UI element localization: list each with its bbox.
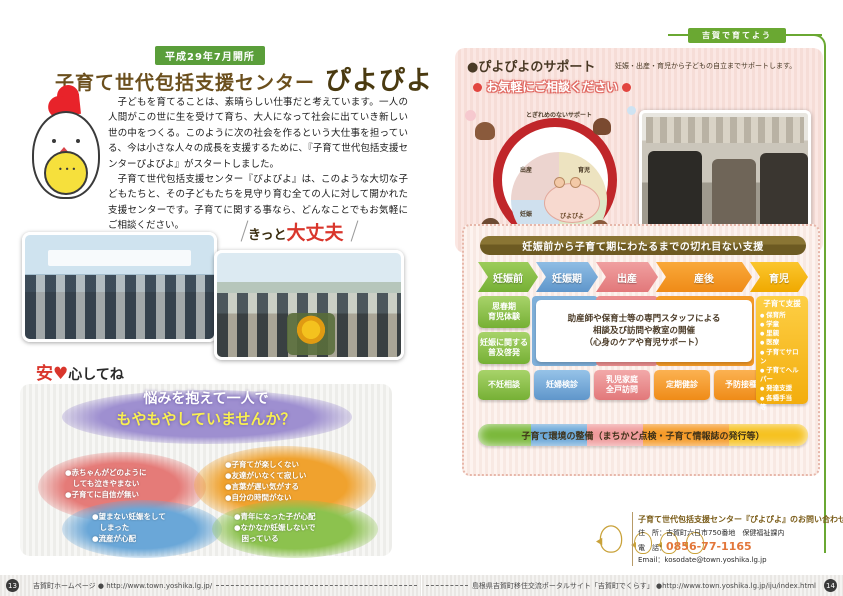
worry-green-line-1: ●青年になった子が心配	[234, 512, 316, 523]
person-illustration-1-icon	[475, 122, 495, 140]
tab-rule-left	[668, 34, 690, 36]
page-title-piyo: ぴよぴよ	[325, 66, 433, 96]
photo-flowers-overlay	[287, 313, 335, 355]
footer-left: 13 吉賀町ホームページ ● http://www.town.yoshika.l…	[0, 575, 421, 596]
photo-consultation	[639, 110, 811, 242]
worry-red-line-2: しても泣きやまない	[65, 479, 147, 490]
footer-right: 島根県吉賀町移住交流ポータルサイト「吉賀町でくらす」 ●http://www.t…	[422, 575, 843, 596]
flow-stage-ikuji: 育児	[750, 262, 808, 292]
flow-right-list-item-4: 子育てサロン	[760, 348, 804, 366]
flow-right-list-item-0: 保育所	[760, 311, 804, 320]
flow-right-list-item-5: 子育てヘルパー	[760, 366, 804, 384]
worry-green-line-3: 困っている	[234, 534, 316, 545]
worry-bubble-orange-text: ●子育てが楽しくない ●友達がいなくて寂しい ●言葉が遅い気がする ●自分の時間…	[225, 460, 306, 504]
cycle-center: ぴよぴよ	[544, 183, 600, 223]
right-page: 吉賀で育てよう ●ぴよぴよのサポート 妊娠・出産・育児から子どもの自立までサポー…	[440, 0, 843, 575]
left-page: 平成29年7月開所 子育て世代包括支援センターぴよぴよ ••• 子どもを育てるこ…	[0, 0, 432, 575]
intro-body: 子どもを育てることは、素晴らしい仕事だと考えています。一人の人間がこの世に生を受…	[108, 95, 408, 233]
worry-blue-line-2: しまった	[92, 523, 166, 534]
contact-address-value: 吉賀町六日市750番地 保健福祉課内	[666, 529, 784, 537]
worry-bubble-red-text: ●赤ちゃんがどのように しても泣きやまない ●子育てに自信が無い	[65, 468, 147, 501]
flow-right-list-item-6: 発達支援	[760, 384, 804, 393]
tab-vertical-rule	[824, 48, 826, 553]
cycle-center-label: ぴよぴよ	[560, 211, 584, 220]
badge-dot-left-icon	[473, 83, 482, 92]
intro-paragraph-1: 子どもを育てることは、素晴らしい仕事だと考えています。一人の人間がこの世に生を受…	[108, 95, 408, 172]
worry-blue-line-1: ●望まない妊娠をして	[92, 512, 166, 523]
cycle-label-ikuji: 育児	[578, 165, 590, 174]
cycle-label-ninshin: 妊娠	[520, 209, 532, 218]
footer-left-text[interactable]: 吉賀町ホームページ ● http://www.town.yoshika.lg.j…	[33, 581, 212, 591]
flow-right-list: 子育て支援 保育所 学童 里親 医療 子育てサロン 子育てヘルパー 発達支援 各…	[756, 296, 808, 404]
flow-service-funin: 不妊相談	[478, 370, 530, 400]
anshin-char-1: 安	[36, 364, 53, 384]
worry-green-line-2: ●なかなか妊娠しないで	[234, 523, 316, 534]
flow-service-teiki: 定期健診	[654, 370, 710, 400]
photo-opening-ceremony	[214, 250, 404, 360]
chick-eye-left-icon	[52, 139, 56, 143]
deco-dot-2	[627, 106, 636, 115]
anshin-label: 安♥心してね	[36, 359, 124, 384]
contact-tel-label: 電 話：	[638, 544, 666, 552]
worry-red-line-1: ●赤ちゃんがどのように	[65, 468, 147, 479]
contact-tel-value[interactable]: 0856-77-1165	[666, 540, 752, 553]
contact-divider	[632, 512, 633, 566]
support-flow-card: 妊娠前から子育て期にわたるまでの切れ目ない支援 妊娠前 妊娠期 出産 産後 育児…	[462, 224, 820, 476]
section-tab-yoshika: 吉賀で育てよう	[688, 28, 786, 43]
contact-tel-row: 電 話：0856-77-1165	[638, 539, 828, 556]
chick-belly-dots-icon: •••	[58, 165, 78, 174]
worry-orange-line-3: ●言葉が遅い気がする	[225, 482, 306, 493]
family-head-icon-2	[570, 177, 581, 188]
chick-belly-shape: •••	[44, 151, 88, 195]
footer-right-dashline	[426, 585, 468, 586]
contact-block: 子育て世代包括支援センター『ぴよぴよ』のお問い合わせ 住 所：吉賀町六日市750…	[638, 514, 828, 566]
flow-banner: 妊娠前から子育て期にわたるまでの切れ目ない支援	[480, 236, 806, 255]
contact-email-label: Email：	[638, 556, 664, 564]
kitto-daijoubu-label: きっと大丈夫	[248, 218, 344, 245]
contact-email-row: Email：kosodate@town.yoshika.lg.jp	[638, 555, 828, 566]
flow-right-list-item-7: 各種手当 等	[760, 394, 804, 412]
flow-service-nyuji: 乳児家庭 全戸訪問	[594, 370, 650, 400]
worry-red-line-3: ●子育てに自信が無い	[65, 490, 147, 501]
consult-badge: お気軽にご相談ください	[473, 78, 631, 95]
page-title: 子育て世代包括支援センターぴよぴよ	[55, 60, 415, 97]
worry-title-line-1: 悩みを抱えて一人で	[20, 390, 392, 409]
support-title: ●ぴよぴよのサポート	[467, 56, 595, 75]
support-card: ●ぴよぴよのサポート 妊娠・出産・育児から子どもの自立までサポートします。 お気…	[455, 48, 823, 253]
flow-left-box-shishunki: 思春期 育児体験	[478, 296, 530, 328]
flow-bottom-bar: 子育て環境の整備（まちかど点検・子育て情報誌の発行等）	[478, 424, 808, 446]
contact-address-row: 住 所：吉賀町六日市750番地 保健福祉課内	[638, 528, 828, 539]
deco-dot-1	[465, 110, 476, 121]
worry-bubble-blue-text: ●望まない妊娠をして しまった ●流産が心配	[92, 512, 166, 545]
chick-eye-right-icon	[76, 139, 80, 143]
worry-title-line-2: もやもやしていませんか？	[20, 409, 392, 429]
flow-left-box-fukyu: 妊娠に関する 普及啓発	[478, 332, 530, 364]
worry-bubble-green-text: ●青年になった子が心配 ●なかなか妊娠しないで 困っている	[234, 512, 316, 545]
worry-title: 悩みを抱えて一人で もやもやしていませんか？	[20, 390, 392, 429]
family-head-icon-1	[554, 177, 565, 188]
page-number-right: 14	[824, 579, 837, 592]
contact-address-label: 住 所：	[638, 529, 666, 537]
flow-stage-ninshinki: 妊娠期	[536, 262, 598, 292]
flow-right-list-title: 子育て支援	[760, 299, 804, 310]
photo-people-overlay	[25, 275, 214, 339]
contact-email-value[interactable]: kosodate@town.yoshika.lg.jp	[664, 556, 766, 564]
badge-dot-right-icon	[622, 83, 631, 92]
page-number-left: 13	[6, 579, 19, 592]
support-subtitle: 妊娠・出産・育児から子どもの自立までサポートします。	[615, 61, 796, 71]
person-illustration-2-icon	[593, 118, 611, 135]
cycle-label-shussan: 出産	[520, 165, 532, 174]
worry-blue-line-3: ●流産が心配	[92, 534, 166, 545]
footer-right-text[interactable]: 島根県吉賀町移住交流ポータルサイト「吉賀町でくらす」 ●http://www.t…	[472, 581, 816, 591]
worry-orange-line-2: ●友達がいなくて寂しい	[225, 471, 306, 482]
anshin-char-2: 心してね	[68, 367, 124, 383]
anshin-heart-icon: ♥	[53, 364, 68, 384]
footer-left-dashline	[216, 585, 417, 586]
contact-title: 子育て世代包括支援センター『ぴよぴよ』のお問い合わせ	[638, 514, 828, 525]
photo-staff-group	[22, 232, 217, 342]
flow-stage-sango: 産後	[656, 262, 752, 292]
consult-badge-text: お気軽にご相談ください	[486, 80, 618, 94]
photo-shelf-overlay	[646, 117, 804, 143]
worry-orange-line-1: ●子育てが楽しくない	[225, 460, 306, 471]
chick-mascot-icon: •••	[24, 95, 106, 215]
flow-right-list-item-1: 学童	[760, 320, 804, 329]
flow-right-list-item-2: 里親	[760, 329, 804, 338]
photo-banner-overlay	[48, 250, 192, 267]
kitto-small-text: きっと	[248, 228, 286, 243]
page-title-text: 子育て世代包括支援センター	[55, 72, 315, 94]
flow-service-ninpu: 妊婦検診	[534, 370, 590, 400]
flow-stage-shussan: 出産	[596, 262, 658, 292]
kitto-big-text: 大丈夫	[286, 222, 343, 244]
flow-right-list-item-3: 医療	[760, 338, 804, 347]
flow-stage-ninshinmae: 妊娠前	[478, 262, 538, 292]
worry-panel: 悩みを抱えて一人で もやもやしていませんか？ ●赤ちゃんがどのように しても泣き…	[20, 384, 392, 556]
flow-mid-box: 助産師や保育士等の専門スタッフによる 相談及び訪問や教室の開催 （心身のケアや育…	[536, 300, 752, 362]
chick-icon-1	[600, 525, 623, 553]
brochure-spread: 平成29年7月開所 子育て世代包括支援センターぴよぴよ ••• 子どもを育てるこ…	[0, 0, 843, 596]
